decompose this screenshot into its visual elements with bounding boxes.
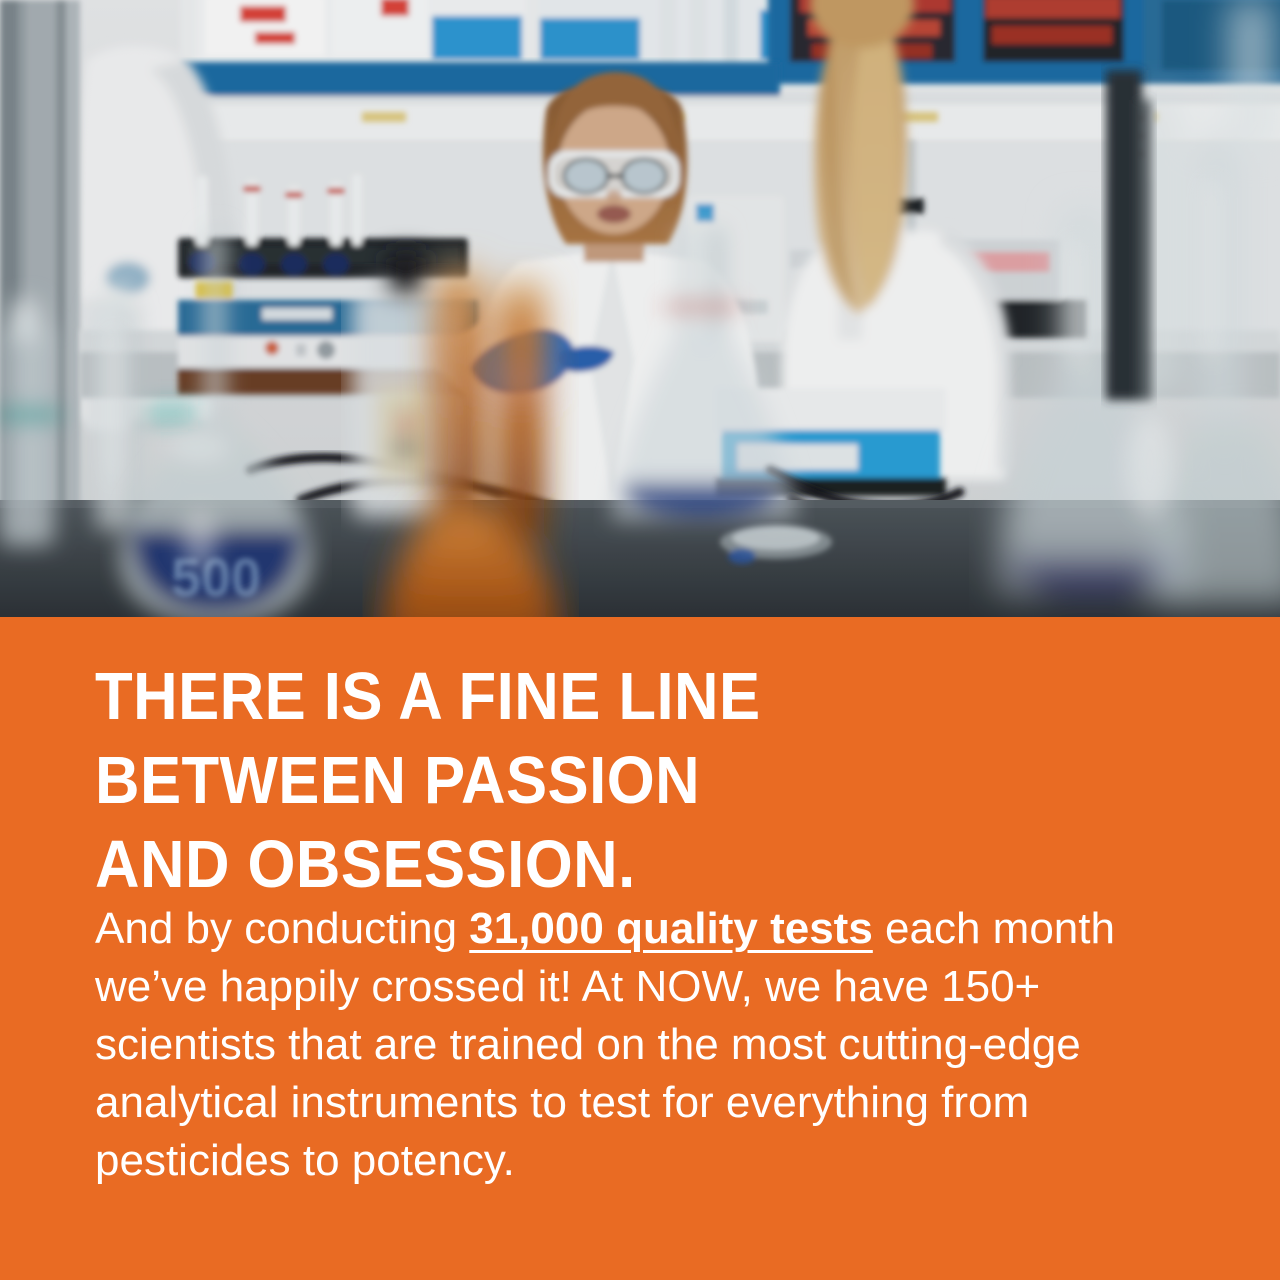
- headline-line-3: AND OBSESSION.: [95, 823, 1107, 907]
- quality-tests-highlight: 31,000 quality tests: [469, 904, 873, 953]
- headline-line-2: BETWEEN PASSION: [95, 739, 1107, 823]
- lab-scene-illustration: 500: [0, 0, 1280, 617]
- body-copy: And by conducting 31,000 quality tests e…: [95, 900, 1185, 1190]
- headline-line-1: THERE IS A FINE LINE: [95, 655, 1107, 739]
- hero-photo: 500: [0, 0, 1280, 617]
- page-title: THERE IS A FINE LINE BETWEEN PASSION AND…: [95, 655, 1195, 907]
- promo-canvas: 500: [0, 0, 1280, 1280]
- body-segment-lead: And by conducting: [95, 904, 469, 953]
